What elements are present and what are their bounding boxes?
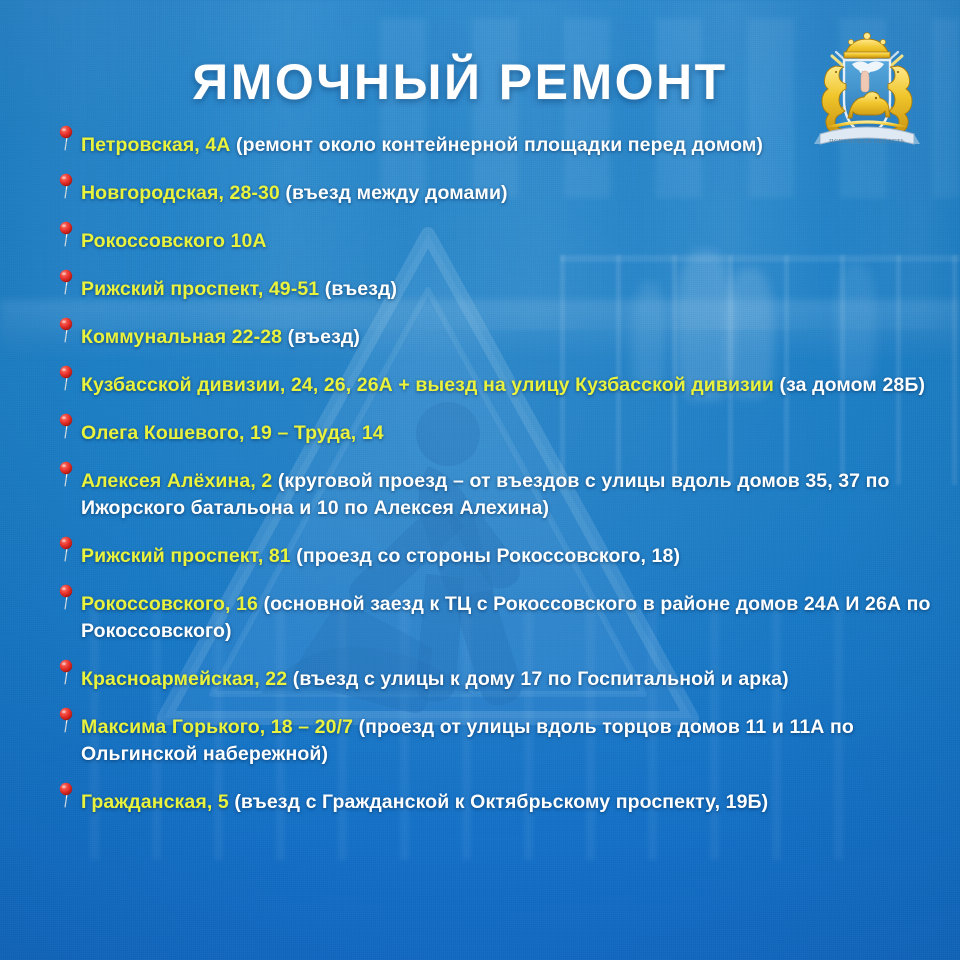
address-note: (въезд) (319, 278, 397, 300)
poster-content: ПСКОВСКАЯ ОБЛАСТЬ ЯМОЧНЫЙ РЕМОНТ Петровс… (0, 0, 960, 960)
list-item: Алексея Алёхина, 2 (круговой проезд – от… (58, 468, 946, 522)
list-item: Рокоссовского, 16 (основной заезд к ТЦ с… (58, 591, 946, 645)
address-text: Алексея Алёхина, 2 (81, 470, 272, 492)
location-pin-icon (58, 221, 74, 247)
list-item: Петровская, 4А (ремонт около контейнерно… (58, 132, 946, 159)
list-item: Гражданская, 5 (въезд с Гражданской к Ок… (58, 789, 946, 816)
location-pin-icon (58, 413, 74, 439)
address-note: (въезд с Гражданской к Октябрьскому прос… (229, 791, 768, 813)
address-text: Петровская, 4А (81, 134, 230, 156)
list-item: Рокоссовского 10А (58, 228, 946, 255)
location-pin-icon (58, 269, 74, 295)
address-note: (проезд со стороны Рокоссовского, 18) (291, 545, 680, 567)
location-pin-icon (58, 125, 74, 151)
list-item: Рижский проспект, 49-51 (въезд) (58, 276, 946, 303)
address-text: Новгородская, 28-30 (81, 182, 280, 204)
list-item: Рижский проспект, 81 (проезд со стороны … (58, 543, 946, 570)
address-note: (въезд с улицы к дому 17 по Госпитальной… (287, 668, 788, 690)
address-note: (за домом 28Б) (774, 374, 925, 396)
address-text: Рижский проспект, 49-51 (81, 278, 319, 300)
repair-address-list: Петровская, 4А (ремонт около контейнерно… (58, 132, 946, 816)
location-pin-icon (58, 782, 74, 808)
location-pin-icon (58, 317, 74, 343)
list-item: Кузбасской дивизии, 24, 26, 26А + выезд … (58, 372, 946, 399)
list-item: Максима Горького, 18 – 20/7 (проезд от у… (58, 714, 946, 768)
address-note: (въезд) (282, 326, 360, 348)
location-pin-icon (58, 584, 74, 610)
address-note: (въезд между домами) (280, 182, 508, 204)
list-item: Красноармейская, 22 (въезд с улицы к дом… (58, 666, 946, 693)
location-pin-icon (58, 365, 74, 391)
page-title: ЯМОЧНЫЙ РЕМОНТ (0, 57, 960, 107)
list-item: Коммунальная 22-28 (въезд) (58, 324, 946, 351)
location-pin-icon (58, 173, 74, 199)
poster: ПСКОВСКАЯ ОБЛАСТЬ ЯМОЧНЫЙ РЕМОНТ Петровс… (0, 0, 960, 960)
address-text: Коммунальная 22-28 (81, 326, 282, 348)
location-pin-icon (58, 659, 74, 685)
location-pin-icon (58, 461, 74, 487)
address-text: Рижский проспект, 81 (81, 545, 291, 567)
address-text: Олега Кошевого, 19 – Труда, 14 (81, 422, 384, 444)
address-text: Гражданская, 5 (81, 791, 229, 813)
location-pin-icon (58, 536, 74, 562)
location-pin-icon (58, 707, 74, 733)
address-text: Рокоссовского 10А (81, 230, 267, 252)
address-text: Максима Горького, 18 – 20/7 (81, 716, 353, 738)
address-text: Рокоссовского, 16 (81, 593, 258, 615)
list-item: Олега Кошевого, 19 – Труда, 14 (58, 420, 946, 447)
address-note: (ремонт около контейнерной площадки пере… (230, 134, 763, 156)
address-text: Кузбасской дивизии, 24, 26, 26А + выезд … (81, 374, 774, 396)
address-text: Красноармейская, 22 (81, 668, 287, 690)
list-item: Новгородская, 28-30 (въезд между домами) (58, 180, 946, 207)
